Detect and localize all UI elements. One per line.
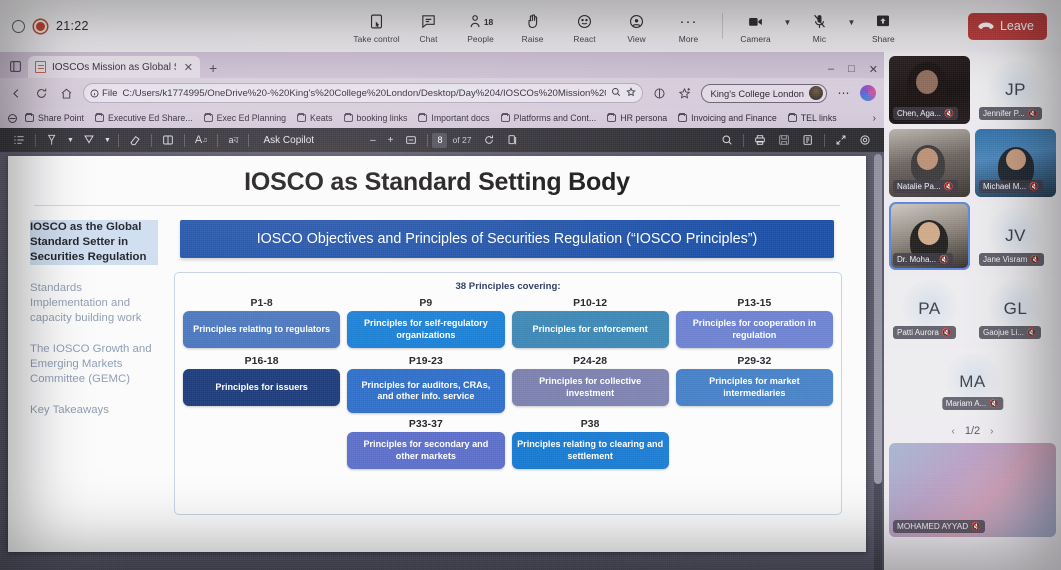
teams-toolbar-left: 21:22 [0, 19, 300, 33]
participant-nameplate: Mariam A... 🔇 [942, 397, 1003, 410]
view-label: View [627, 34, 645, 44]
roster-page-indicator: 1/2 [965, 425, 980, 437]
mic-muted-icon: 🔇 [942, 328, 952, 337]
people-count-badge: 18 [484, 17, 493, 27]
principle-text: Principles for cooperation in regulation [676, 311, 833, 348]
more-ellipsis-icon: ··· [680, 12, 698, 31]
participant-nameplate: Dr. Moha... 🔇 [893, 253, 953, 266]
bookmark-item[interactable]: TEL links [783, 113, 842, 123]
zoom-in-button[interactable]: + [382, 128, 400, 152]
toolbar-divider [722, 13, 723, 39]
minimize-button[interactable]: – [828, 63, 834, 76]
draw-chevron-down-icon[interactable]: ▼ [101, 128, 114, 152]
browser-tab-strip: IOSCOs Mission as Global Standa ✕ + – □ … [0, 52, 884, 78]
address-bar-url: C:/Users/k1774995/OneDrive%20-%20King's%… [122, 88, 606, 99]
participant-name: Patti Aurora [897, 328, 939, 337]
principle-text: Principles for enforcement [512, 311, 669, 348]
stop-recording-icon[interactable] [12, 20, 25, 33]
participant-name: Natalie Pa... [897, 182, 941, 191]
fullscreen-icon[interactable] [829, 128, 853, 152]
home-button[interactable] [58, 85, 75, 102]
participant-name: Michael M... [983, 182, 1026, 191]
principles-caption: 38 Principles covering: [183, 281, 833, 292]
mic-button[interactable]: Mic [793, 8, 845, 44]
participant-nameplate: Gaojue Li... 🔇 [979, 326, 1041, 339]
bookmark-item[interactable]: HR persona [602, 113, 672, 123]
browser-nav-bar: File C:/Users/k1774995/OneDrive%20-%20Ki… [0, 78, 884, 108]
bookmark-item[interactable]: Invoicing and Finance [673, 113, 782, 123]
take-control-button[interactable]: Take control [351, 8, 403, 44]
folder-icon [788, 114, 797, 122]
teams-toolbar-actions: Take control Chat 18 People [300, 8, 960, 44]
mic-label: Mic [813, 34, 826, 44]
sidenav-item-key-takeaways[interactable]: Key Takeaways [30, 403, 158, 418]
participant-nameplate: Jennifer P... 🔇 [979, 107, 1042, 120]
chat-label: Chat [420, 34, 438, 44]
browser-more-button[interactable]: ⋯ [835, 85, 852, 102]
toolbar-divider [217, 134, 218, 147]
recording-indicator-icon[interactable] [34, 20, 47, 33]
sidenav-item-standard-setter[interactable]: IOSCO as the Global Standard Setter in S… [30, 220, 158, 265]
bookmarks-overflow-button[interactable]: › [873, 113, 879, 124]
pdf-page: IOSCO as Standard Setting Body IOSCO as … [8, 156, 866, 552]
principles-row-3: P33-37 Principles for secondary and othe… [183, 419, 833, 469]
mic-muted-icon [811, 12, 828, 31]
roster-prev-button[interactable]: ‹ [952, 426, 955, 437]
pdf-viewport: IOSCO as Standard Setting Body IOSCO as … [0, 152, 884, 570]
profile-name: King's College London [710, 88, 804, 99]
draw-icon[interactable] [77, 128, 101, 152]
camera-chevron-down-icon[interactable]: ▼ [782, 18, 794, 27]
slide-main-pane: IOSCO Objectives and Principles of Secur… [168, 206, 866, 536]
sidenav-item-standards-implementation[interactable]: Standards Implementation and capacity bu… [30, 281, 158, 326]
roster-pager: ‹ 1/2 › [889, 425, 1056, 437]
meeting-clock: 21:22 [56, 19, 89, 33]
participant-name: Jane Visram [983, 255, 1027, 264]
search-icon[interactable] [715, 128, 739, 152]
mic-muted-icon: 🔇 [1028, 109, 1038, 118]
view-icon [628, 12, 645, 31]
close-window-button[interactable]: ✕ [869, 63, 878, 76]
close-tab-icon[interactable]: ✕ [182, 61, 193, 74]
participant-tile[interactable]: PA Patti Aurora 🔇 [889, 275, 970, 343]
roster-next-button[interactable]: › [990, 426, 993, 437]
principle-range: P10-12 [573, 298, 607, 309]
toc-sidebar-icon[interactable] [7, 128, 31, 152]
people-button[interactable]: 18 People [455, 8, 507, 44]
bookmark-label: TEL links [801, 113, 837, 123]
participant-nameplate: Chen, Aga... 🔇 [893, 107, 958, 120]
print-icon[interactable] [748, 128, 772, 152]
bookmark-label: Invoicing and Finance [691, 113, 777, 123]
principles-row-1: P1-8 Principles relating to regulators P… [183, 298, 833, 348]
back-button[interactable] [8, 85, 25, 102]
principle-card[interactable]: P24-28 Principles for collective investm… [512, 356, 669, 413]
participant-name: Jennifer P... [983, 109, 1025, 118]
raise-label: Raise [522, 34, 544, 44]
principle-card[interactable]: P33-37 Principles for secondary and othe… [347, 419, 504, 469]
more-button[interactable]: ··· More [663, 8, 715, 44]
notes-icon[interactable] [796, 128, 820, 152]
mic-muted-icon: 🔇 [1027, 328, 1037, 337]
principle-text: Principles for issuers [183, 369, 340, 406]
principle-text: Principles relating to regulators [183, 311, 340, 348]
participant-tile[interactable]: Michael M... 🔇 [975, 129, 1056, 197]
participant-nameplate: Michael M... 🔇 [979, 180, 1043, 193]
leave-button[interactable]: Leave [968, 13, 1047, 40]
participant-tile[interactable]: MA Mariam A... 🔇 [889, 348, 1056, 416]
translate-icon[interactable]: aব [222, 128, 244, 152]
react-label: React [573, 34, 595, 44]
participant-name: Gaojue Li... [983, 328, 1024, 337]
iosco-principles-header: IOSCO Objectives and Principles of Secur… [180, 220, 834, 258]
participant-nameplate: Jane Visram 🔇 [979, 253, 1044, 266]
folder-icon [344, 114, 353, 122]
principle-card[interactable]: P13-15 Principles for cooperation in reg… [676, 298, 833, 348]
file-scheme-indicator: File [90, 88, 117, 99]
page-count-label: of 27 [447, 135, 476, 145]
profile-button[interactable]: King's College London [701, 84, 827, 103]
highlight-chevron-down-icon[interactable]: ▼ [64, 128, 77, 152]
copilot-icon[interactable] [860, 85, 876, 101]
bookmark-label: Share Point [38, 113, 84, 123]
leave-label: Leave [1000, 19, 1034, 33]
fit-page-icon[interactable] [399, 128, 423, 152]
principle-text: Principles relating to clearing and sett… [512, 432, 669, 469]
presenter-nameplate: MOHAMED AYYAD 🔇 [893, 520, 985, 533]
participant-name: Dr. Moha... [897, 255, 936, 264]
teams-meeting-toolbar: 21:22 Take control Chat [0, 0, 1061, 52]
principle-text: Principles for auditors, CRAs, and other… [347, 369, 504, 413]
more-label: More [679, 34, 698, 44]
view-button[interactable]: View [611, 8, 663, 44]
toolbar-divider [35, 134, 36, 147]
raise-hand-icon [524, 12, 541, 31]
presenter-name: MOHAMED AYYAD [897, 522, 968, 531]
participant-name: Mariam A... [946, 399, 986, 408]
hangup-icon [978, 21, 994, 32]
bookmark-label: Important docs [431, 113, 489, 123]
react-smiley-icon [576, 12, 593, 31]
folder-icon [418, 114, 427, 122]
screen-photo: 21:22 Take control Chat [0, 0, 1061, 570]
bookmark-label: Executive Ed Share... [108, 113, 193, 123]
principle-range: P38 [581, 419, 600, 430]
take-control-icon [368, 12, 385, 31]
toolbar-divider [427, 134, 428, 147]
principle-card[interactable]: P29-32 Principles for market intermediar… [676, 356, 833, 413]
principle-text: Principles for self-regulatory organizat… [347, 311, 504, 348]
bookmark-item[interactable]: Exec Ed Planning [199, 113, 291, 123]
principle-card[interactable]: P16-18 Principles for issuers [183, 356, 340, 413]
react-button[interactable]: React [559, 8, 611, 44]
bookmark-label: Platforms and Cont... [514, 113, 597, 123]
bookmark-label: Keats [310, 113, 333, 123]
mic-muted-icon: 🔇 [944, 109, 954, 118]
settings-gear-icon[interactable] [853, 128, 877, 152]
zoom-out-button[interactable]: – [364, 128, 382, 152]
principle-text: Principles for secondary and other marke… [347, 432, 504, 469]
mic-muted-icon: 🔇 [1029, 182, 1039, 191]
principle-card[interactable]: P9 Principles for self-regulatory organi… [347, 298, 504, 348]
pdf-toolbar-right [715, 128, 877, 152]
participant-name: Chen, Aga... [897, 109, 941, 118]
principle-card[interactable]: P19-23 Principles for auditors, CRAs, an… [347, 356, 504, 413]
mic-muted-icon: 🔇 [939, 255, 949, 264]
edge-browser-window: IOSCOs Mission as Global Standa ✕ + – □ … [0, 52, 884, 570]
new-tab-button[interactable]: + [200, 60, 226, 78]
participant-nameplate: Natalie Pa... 🔇 [893, 180, 958, 193]
window-controls: – □ ✕ [828, 63, 878, 76]
bookmark-item[interactable]: Executive Ed Share... [90, 113, 198, 123]
address-bar[interactable]: File C:/Users/k1774995/OneDrive%20-%20Ki… [83, 83, 643, 103]
pdf-vertical-scrollbar[interactable] [874, 154, 882, 570]
erase-icon[interactable] [123, 128, 147, 152]
slide-sidenav: IOSCO as the Global Standard Setter in S… [8, 206, 168, 536]
maximize-button[interactable]: □ [848, 63, 855, 76]
pdf-favicon-icon [35, 61, 46, 73]
toolbar-divider [151, 134, 152, 147]
mic-muted-icon: 🔇 [989, 399, 999, 408]
people-icon: 18 [468, 12, 493, 31]
chat-button[interactable]: Chat [403, 8, 455, 44]
roster-grid: Chen, Aga... 🔇 JP Jennifer P... 🔇 Natali… [889, 56, 1056, 343]
toolbar-divider [248, 134, 249, 147]
grid-spacer [676, 419, 833, 469]
principle-card[interactable]: P38 Principles relating to clearing and … [512, 419, 669, 469]
save-icon[interactable] [772, 128, 796, 152]
presenter-tile[interactable]: MOHAMED AYYAD 🔇 [889, 443, 1056, 537]
bookmark-label: booking links [357, 113, 408, 123]
bookmark-label: Exec Ed Planning [217, 113, 286, 123]
highlight-icon[interactable] [40, 128, 64, 152]
folder-icon [204, 114, 213, 122]
bookmark-item[interactable]: booking links [339, 113, 413, 123]
avatar [809, 86, 823, 100]
add-favorite-icon[interactable] [676, 85, 693, 102]
bookmark-item[interactable]: Important docs [413, 113, 494, 123]
folder-icon [678, 114, 687, 122]
bookmarks-bar: Share Point Executive Ed Share... Exec E… [0, 108, 884, 128]
collections-icon[interactable] [5, 111, 19, 125]
share-label: Share [872, 34, 895, 44]
principle-range: P1-8 [250, 298, 272, 309]
toolbar-divider [118, 134, 119, 147]
mic-muted-icon: 🔇 [971, 522, 981, 531]
share-button[interactable]: Share [857, 8, 909, 44]
principle-card[interactable]: P10-12 Principles for enforcement [512, 298, 669, 348]
page-layout-icon[interactable] [501, 128, 525, 152]
raise-hand-button[interactable]: Raise [507, 8, 559, 44]
refresh-button[interactable] [33, 85, 50, 102]
mic-chevron-down-icon[interactable]: ▼ [845, 18, 857, 27]
bookmark-label: HR persona [620, 113, 667, 123]
principles-panel: 38 Principles covering: P1-8 Principles … [174, 272, 842, 515]
principles-row-2: P16-18 Principles for issuers P19-23 Pri… [183, 356, 833, 413]
principle-range: P9 [419, 298, 432, 309]
toolbar-divider [743, 134, 744, 147]
principle-range: P33-37 [409, 419, 443, 430]
search-icon[interactable] [611, 87, 621, 100]
split-screen-icon[interactable] [651, 85, 668, 102]
slide-body: IOSCO as the Global Standard Setter in S… [8, 206, 866, 536]
toolbar-divider [184, 134, 185, 147]
camera-label: Camera [740, 34, 770, 44]
participant-tile-active-speaker[interactable]: Dr. Moha... 🔇 [889, 202, 970, 270]
principle-range: P29-32 [737, 356, 771, 367]
bookmark-item[interactable]: Keats [292, 113, 338, 123]
folder-icon [607, 114, 616, 122]
mic-muted-icon: 🔇 [1030, 255, 1040, 264]
page-title: IOSCO as Standard Setting Body [8, 156, 866, 197]
read-aloud-icon[interactable]: A♫ [189, 128, 214, 152]
take-control-label: Take control [353, 34, 399, 44]
participant-tile[interactable]: JV Jane Visram 🔇 [975, 202, 1056, 270]
share-screen-icon [875, 12, 891, 31]
page-number-input[interactable]: 8 [432, 133, 447, 148]
grid-spacer [183, 419, 340, 469]
rotate-icon[interactable] [477, 128, 501, 152]
participant-tile[interactable]: Chen, Aga... 🔇 [889, 56, 970, 124]
folder-icon [501, 114, 510, 122]
participant-tile[interactable]: GL Gaojue Li... 🔇 [975, 275, 1056, 343]
tab-actions-icon[interactable] [6, 57, 24, 75]
principle-text: Principles for collective investment [512, 369, 669, 406]
participant-tile[interactable]: Natalie Pa... 🔇 [889, 129, 970, 197]
principle-range: P16-18 [245, 356, 279, 367]
mic-muted-icon: 🔇 [944, 182, 954, 191]
principle-range: P13-15 [737, 298, 771, 309]
participant-nameplate: Patti Aurora 🔇 [893, 326, 956, 339]
folder-icon [25, 114, 34, 122]
principle-card[interactable]: P1-8 Principles relating to regulators [183, 298, 340, 348]
principle-range: P24-28 [573, 356, 607, 367]
file-scheme-label: File [102, 88, 117, 99]
bookmark-item[interactable]: Platforms and Cont... [496, 113, 602, 123]
folder-icon [297, 114, 306, 122]
browser-tab-title: IOSCOs Mission as Global Standa [52, 62, 176, 73]
camera-icon [747, 12, 764, 31]
principle-text: Principles for market intermediaries [676, 369, 833, 406]
browser-tab-active[interactable]: IOSCOs Mission as Global Standa ✕ [28, 56, 200, 78]
teams-participant-roster: Chen, Aga... 🔇 JP Jennifer P... 🔇 Natali… [884, 52, 1061, 570]
page-view-icon[interactable] [156, 128, 180, 152]
chat-icon [420, 12, 437, 31]
sidenav-item-gemc[interactable]: The IOSCO Growth and Emerging Markets Co… [30, 342, 158, 387]
bookmark-item[interactable]: Share Point [20, 113, 89, 123]
toolbar-divider [824, 134, 825, 147]
camera-button[interactable]: Camera [730, 8, 782, 44]
participant-tile[interactable]: JP Jennifer P... 🔇 [975, 56, 1056, 124]
pdf-toolbar: ▼ ▼ A♫ aব Ask Copilot – + [0, 128, 884, 152]
star-icon[interactable] [626, 87, 636, 100]
folder-icon [95, 114, 104, 122]
ask-copilot-button[interactable]: Ask Copilot [253, 135, 324, 146]
people-label: People [467, 34, 494, 44]
principle-range: P19-23 [409, 356, 443, 367]
